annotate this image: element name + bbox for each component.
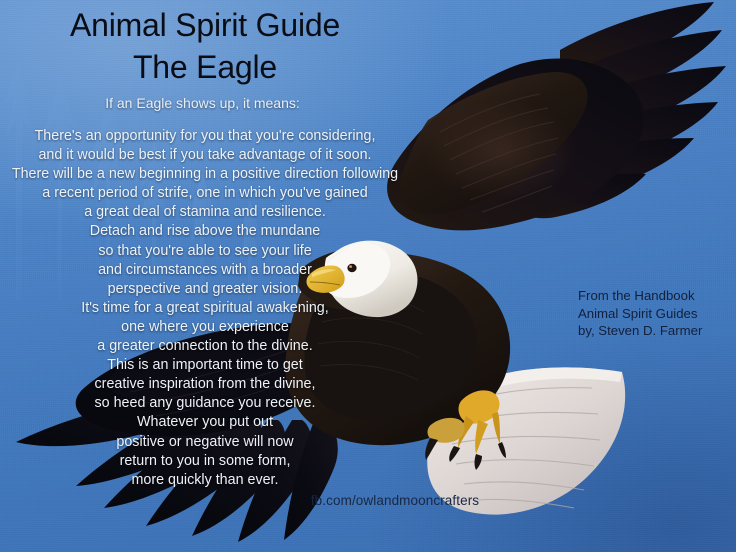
facebook-credit: fb.com/owlandmooncrafters: [250, 492, 540, 509]
body-line: a greater connection to the divine.: [4, 337, 406, 356]
body-line: perspective and greater vision.: [4, 280, 406, 299]
animal-spirit-guide-poster: Animal Spirit Guide The Eagle If an Eagl…: [0, 0, 736, 552]
attribution-line: From the Handbook: [578, 287, 730, 305]
poster-subtitle: If an Eagle shows up, it means:: [10, 94, 395, 112]
body-line: There will be a new beginning in a posit…: [4, 165, 406, 184]
body-line: return to you in some form,: [4, 452, 406, 471]
poster-body-text: There's an opportunity for you that you'…: [4, 127, 406, 490]
title-line-2: The Eagle: [10, 46, 400, 88]
attribution-line: by, Steven D. Farmer: [578, 322, 730, 340]
body-line: creative inspiration from the divine,: [4, 375, 406, 394]
body-line: positive or negative will now: [4, 433, 406, 452]
body-line: more quickly than ever.: [4, 471, 406, 490]
attribution-line: Animal Spirit Guides: [578, 305, 730, 323]
body-line: It's time for a great spiritual awakenin…: [4, 299, 406, 318]
body-line: so that you're able to see your life: [4, 242, 406, 261]
title-line-1: Animal Spirit Guide: [10, 4, 400, 46]
body-line: There's an opportunity for you that you'…: [4, 127, 406, 146]
poster-title: Animal Spirit Guide The Eagle: [10, 4, 400, 88]
body-line: Whatever you put out: [4, 413, 406, 432]
body-line: so heed any guidance you receive.: [4, 394, 406, 413]
body-line: one where you experience: [4, 318, 406, 337]
body-line: a great deal of stamina and resilience.: [4, 203, 406, 222]
eagle-right-wing: [387, 2, 726, 230]
body-line: This is an important time to get: [4, 356, 406, 375]
body-line: a recent period of strife, one in which …: [4, 184, 406, 203]
body-line: and it would be best if you take advanta…: [4, 146, 406, 165]
body-line: and circumstances with a broader: [4, 261, 406, 280]
book-attribution: From the Handbook Animal Spirit Guides b…: [578, 287, 730, 340]
body-line: Detach and rise above the mundane: [4, 222, 406, 241]
